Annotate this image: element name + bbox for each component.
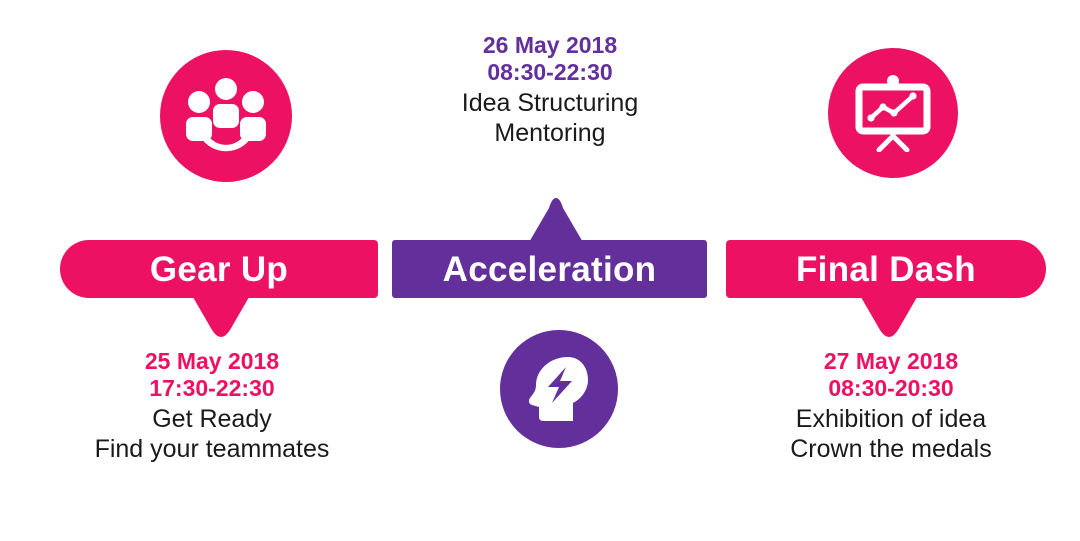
detail-final-dash-1: Exhibition of idea	[726, 405, 1056, 435]
banner-label-final-dash: Final Dash	[796, 252, 976, 287]
banner-label-acceleration: Acceleration	[443, 252, 657, 287]
time-final-dash: 08:30-20:30	[726, 375, 1056, 402]
pointer-gear-up	[190, 292, 252, 346]
time-gear-up: 17:30-22:30	[36, 375, 388, 402]
phase-text-gear-up: 25 May 2018 17:30-22:30 Get Ready Find y…	[36, 348, 388, 464]
detail-acceleration-1: Idea Structuring	[400, 89, 700, 119]
date-gear-up: 25 May 2018	[36, 348, 388, 375]
pointer-acceleration	[528, 198, 584, 244]
phase-banner-final-dash[interactable]: Final Dash	[726, 240, 1046, 298]
detail-gear-up-2: Find your teammates	[36, 435, 388, 465]
detail-acceleration-2: Mentoring	[400, 119, 700, 149]
date-final-dash: 27 May 2018	[726, 348, 1056, 375]
detail-final-dash-2: Crown the medals	[726, 435, 1056, 465]
phase-text-final-dash: 27 May 2018 08:30-20:30 Exhibition of id…	[726, 348, 1056, 464]
detail-gear-up-1: Get Ready	[36, 405, 388, 435]
date-acceleration: 26 May 2018	[400, 32, 700, 59]
presentation-chart-icon	[828, 48, 958, 178]
phase-banner-acceleration[interactable]: Acceleration	[392, 240, 707, 298]
group-people-icon	[160, 50, 292, 182]
banner-label-gear-up: Gear Up	[150, 252, 288, 287]
phase-banner-gear-up[interactable]: Gear Up	[60, 240, 378, 298]
timeline-infographic: Gear Up 25 May 2018 17:30-22:30 Get Read…	[0, 0, 1080, 541]
time-acceleration: 08:30-22:30	[400, 59, 700, 86]
head-lightning-icon	[500, 330, 618, 448]
pointer-final-dash	[858, 292, 920, 346]
phase-text-acceleration: 26 May 2018 08:30-22:30 Idea Structuring…	[400, 32, 700, 148]
